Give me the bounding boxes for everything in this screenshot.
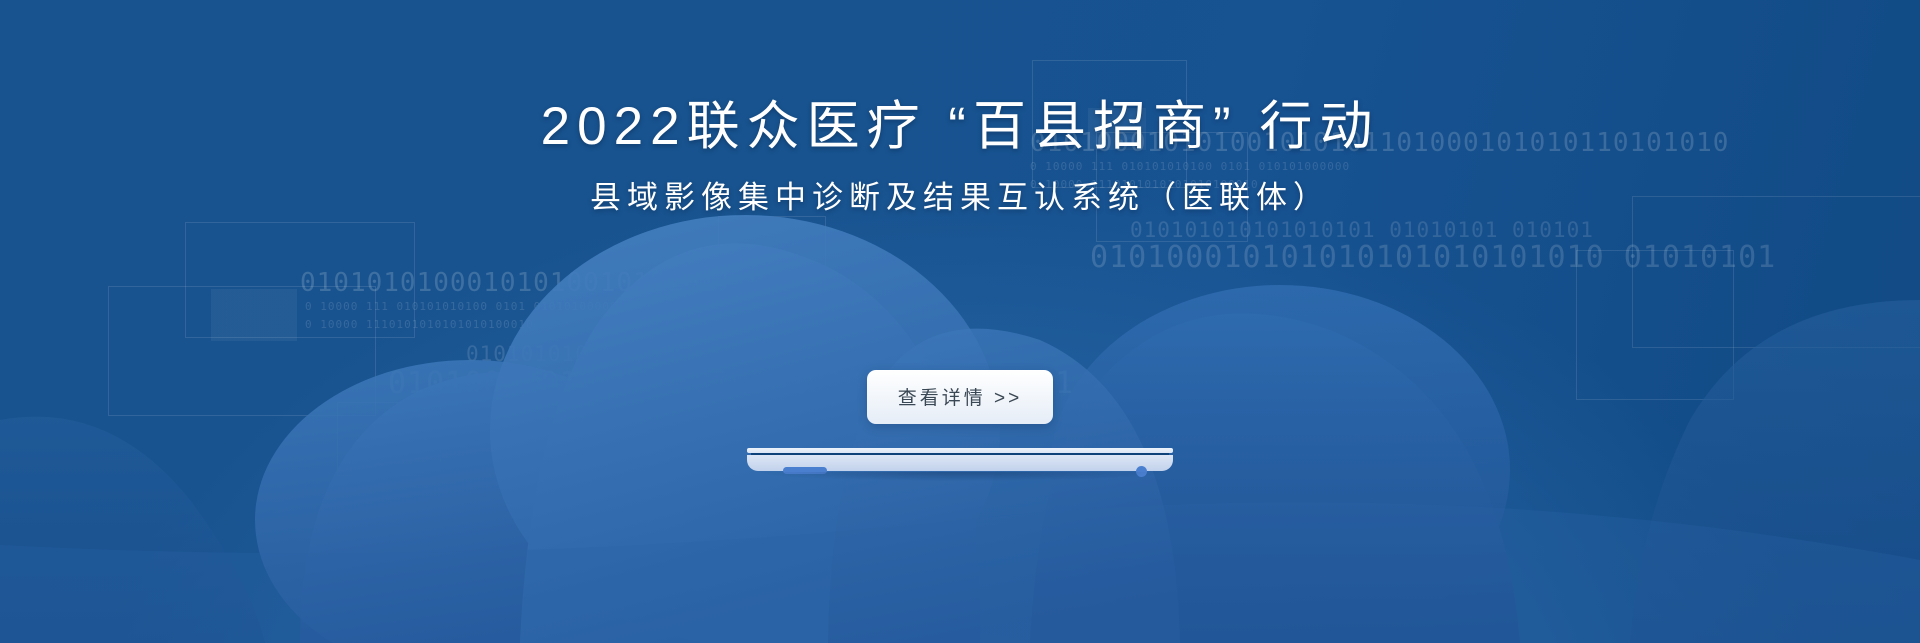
device-body [747,455,1173,471]
view-details-button[interactable]: 查看详情 >> [867,370,1053,424]
binary-text-3: 010101010101010101 01010101 010101 [466,342,930,366]
decor-rect-far-right-b [1632,196,1920,348]
headline-block: 2022联众医疗 “百县招商” 行动 县域影像集中诊断及结果互认系统（医联体） [0,96,1920,218]
binary-text-9: 010100010101010101010101010 01010101 [1090,240,1776,275]
binary-text-1: 0 10000 111 010101010100 0101 0101010000… [305,300,625,313]
page-subtitle: 县域影像集中诊断及结果互认系统（医联体） [590,178,1330,218]
tablet-device [747,448,1173,474]
promo-banner: 01010101000101010010101011 0 0 10000 111… [0,0,1920,643]
decor-rect-top-center [718,216,826,284]
decor-fill-left [211,289,297,341]
page-title: 2022联众医疗 “百县招商” 行动 [541,96,1380,158]
cta-block: 查看详情 >> [0,370,1920,424]
device-shadow [757,472,1163,481]
binary-text-8: 010101010101010101 01010101 010101 [1130,218,1594,242]
binary-text-0: 01010101000101010010101011 0 [300,268,766,298]
binary-text-2: 0 10000 1110101010101010100010 [305,318,534,331]
decor-rect-left-b [185,222,415,338]
